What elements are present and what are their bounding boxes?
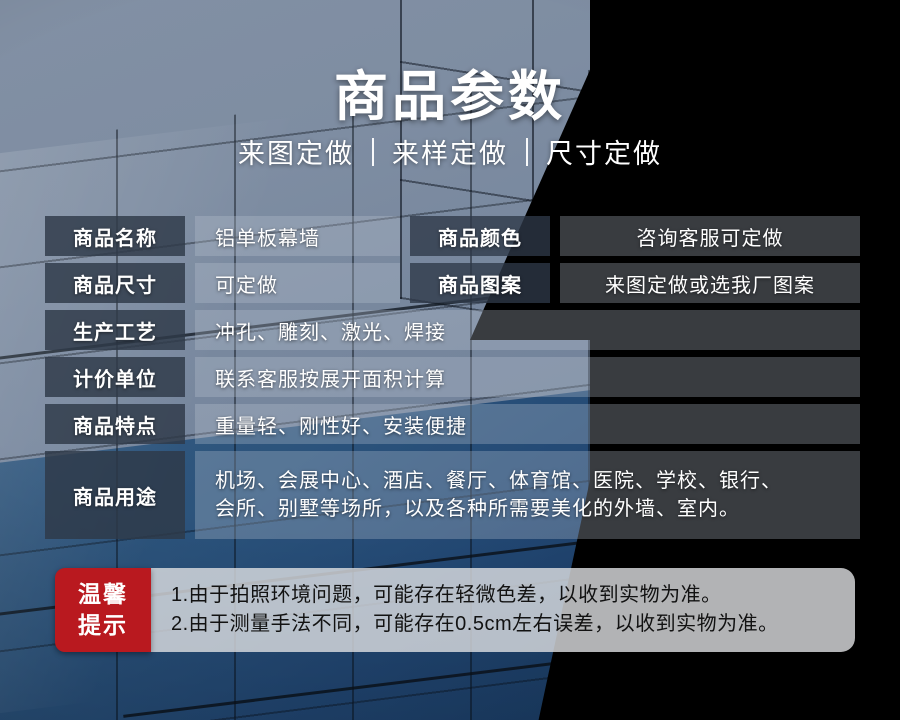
subtitle-segment-3: 尺寸定做 [528, 132, 680, 171]
warm-tip-badge: 温馨 提示 [55, 568, 151, 652]
spec-value: 来图定做或选我厂图案 [560, 263, 860, 303]
subtitle-segment-2: 来样定做 [374, 132, 526, 171]
spec-value: 咨询客服可定做 [560, 216, 860, 256]
notice-panel: 1.由于拍照环境问题，可能存在轻微色差，以收到实物为准。 2.由于测量手法不同，… [151, 568, 855, 652]
subtitle-segment-1: 来图定做 [220, 132, 372, 171]
spec-label: 商品特点 [45, 404, 185, 444]
spec-value-line-1: 机场、会展中心、酒店、餐厅、体育馆、医院、学校、银行、 [215, 470, 782, 492]
spec-label: 商品图案 [410, 263, 550, 303]
spec-label: 计价单位 [45, 357, 185, 397]
page-title: 商品参数 [0, 52, 900, 131]
notice-item: 2.由于测量手法不同，可能存在0.5cm左右误差，以收到实物为准。 [171, 612, 833, 637]
spec-label: 商品颜色 [410, 216, 550, 256]
product-spec-banner: 商品参数 来图定做 来样定做 尺寸定做 商品名称 铝单板幕墙 商品颜色 咨询客服… [0, 0, 900, 720]
spec-value: 铝单板幕墙 [195, 216, 400, 256]
spec-value: 重量轻、刚性好、安装便捷 [195, 404, 860, 444]
spec-value: 可定做 [195, 263, 400, 303]
badge-line-2: 提示 [78, 610, 128, 641]
spec-value-line-2: 会所、别墅等场所，以及各种所需要美化的外墙、室内。 [215, 498, 740, 520]
table-row: 商品尺寸 可定做 商品图案 来图定做或选我厂图案 [45, 263, 860, 303]
notice-section: 温馨 提示 1.由于拍照环境问题，可能存在轻微色差，以收到实物为准。 2.由于测… [55, 568, 855, 652]
subtitle-separator-icon [372, 138, 374, 166]
table-row: 商品用途 机场、会展中心、酒店、餐厅、体育馆、医院、学校、银行、 会所、别墅等场… [45, 451, 860, 539]
spec-label: 商品名称 [45, 216, 185, 256]
subtitle-bar: 来图定做 来样定做 尺寸定做 [0, 132, 900, 171]
spec-value: 机场、会展中心、酒店、餐厅、体育馆、医院、学校、银行、 会所、别墅等场所，以及各… [195, 451, 860, 539]
spec-label: 生产工艺 [45, 310, 185, 350]
spec-value: 联系客服按展开面积计算 [195, 357, 860, 397]
badge-line-1: 温馨 [78, 579, 128, 610]
spec-label: 商品尺寸 [45, 263, 185, 303]
spec-table: 商品名称 铝单板幕墙 商品颜色 咨询客服可定做 商品尺寸 可定做 商品图案 来图… [45, 216, 860, 546]
table-row: 商品特点 重量轻、刚性好、安装便捷 [45, 404, 860, 444]
table-row: 生产工艺 冲孔、雕刻、激光、焊接 [45, 310, 860, 350]
table-row: 商品名称 铝单板幕墙 商品颜色 咨询客服可定做 [45, 216, 860, 256]
spec-label: 商品用途 [45, 451, 185, 539]
table-row: 计价单位 联系客服按展开面积计算 [45, 357, 860, 397]
notice-item: 1.由于拍照环境问题，可能存在轻微色差，以收到实物为准。 [171, 583, 833, 608]
spec-value: 冲孔、雕刻、激光、焊接 [195, 310, 860, 350]
subtitle-separator-icon [526, 138, 528, 166]
